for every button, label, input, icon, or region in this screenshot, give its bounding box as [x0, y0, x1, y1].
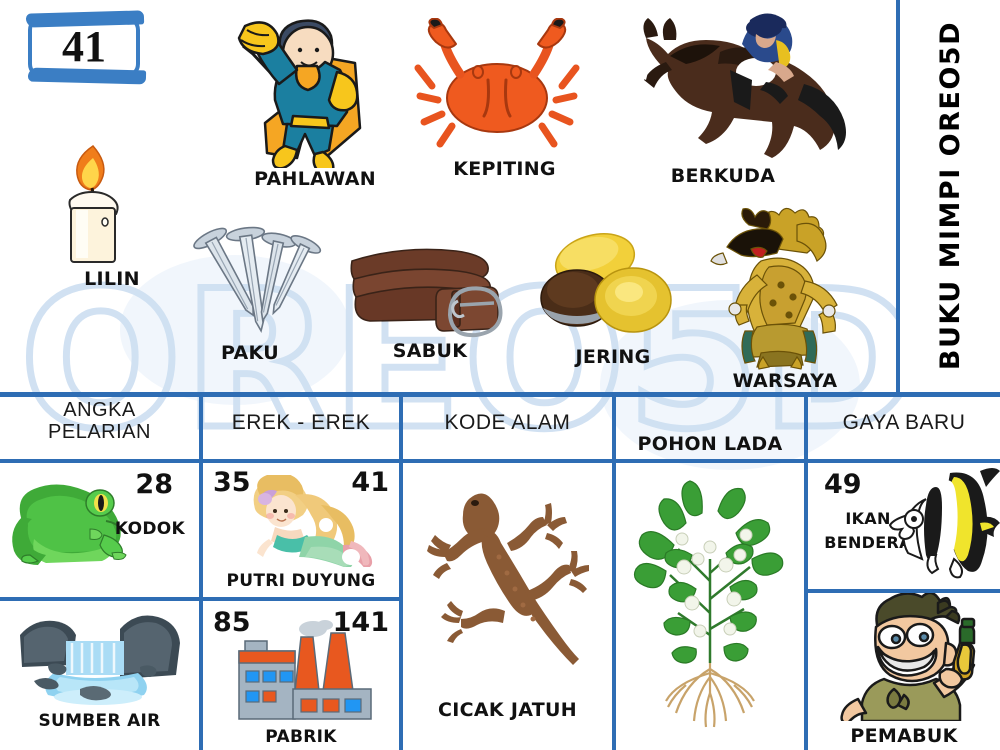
cell-number-left: 49 — [824, 469, 862, 500]
cell-pemabuk[interactable]: PEMABUK — [808, 593, 1000, 750]
item-label: KEPITING — [412, 158, 597, 180]
bottom-category-grid: ANGKA PELARIAN 28 — [0, 392, 1000, 750]
item-label: JERING — [533, 346, 693, 368]
grid-divider-4 — [804, 397, 808, 750]
cell-label: POHON LADA — [616, 433, 804, 455]
cell-label: PUTRI DUYUNG — [203, 571, 399, 591]
nails-icon — [170, 222, 330, 342]
sidebar-brand-banner: BUKU MIMPI OREO5D — [896, 0, 1000, 392]
factory-icon — [231, 615, 379, 723]
page-number-badge: 41 — [28, 16, 140, 78]
waterfall-icon — [14, 607, 184, 707]
cell-label: CICAK JATUH — [403, 699, 612, 721]
grid-divider-1 — [199, 397, 203, 750]
row-rule-col2 — [203, 597, 399, 601]
column-gaya-baru: GAYA BARU 49 IKAN BENDERA — [808, 397, 1000, 750]
column-header-line1: ANGKA — [0, 399, 199, 421]
column-header: ANGKA PELARIAN — [0, 397, 199, 444]
gecko-icon — [423, 481, 603, 671]
header-rule-col3 — [403, 459, 612, 463]
item-lilin[interactable]: LILIN — [48, 138, 176, 290]
cell-label: PEMABUK — [808, 725, 1000, 747]
item-label: WARSAYA — [705, 370, 865, 392]
header-rule-col1 — [0, 459, 199, 463]
header-rule-col4 — [616, 459, 804, 463]
candle-icon — [48, 138, 176, 268]
cell-pohon-lada[interactable]: POHON LADA — [616, 397, 804, 750]
pepper-plant-icon — [626, 463, 794, 743]
grid-divider-3 — [612, 397, 616, 750]
sidebar-title: BUKU MIMPI OREO5D — [935, 21, 966, 370]
wayang-puppet-icon — [705, 205, 865, 370]
column-header: EREK - EREK — [203, 397, 399, 435]
column-pohon-lada: POHON LADA — [616, 397, 804, 750]
column-header: KODE ALAM — [403, 397, 612, 435]
item-label: LILIN — [48, 268, 176, 290]
cell-putri-duyung[interactable]: 35 41 — [203, 463, 399, 597]
column-angka-pelarian: ANGKA PELARIAN 28 — [0, 397, 199, 750]
jengkol-beans-icon — [533, 226, 693, 346]
row-rule-col1 — [0, 597, 199, 601]
dream-book-page: OREO5D BUKU MIMPI OREO5D 41 — [0, 0, 1000, 750]
drunk-man-icon — [834, 593, 984, 721]
column-erek-erek: EREK - EREK 35 41 — [203, 397, 399, 750]
grid-divider-2 — [399, 397, 403, 750]
cell-sumber-air[interactable]: SUMBER AIR — [0, 603, 199, 750]
row-rule-col5 — [808, 589, 1000, 593]
cell-label: KODOK — [115, 519, 185, 539]
cell-number-right: 28 — [135, 469, 173, 500]
header-rule-col2 — [203, 459, 399, 463]
item-label: BERKUDA — [608, 165, 838, 187]
horse-rider-icon — [608, 10, 838, 165]
superhero-icon — [205, 8, 425, 168]
item-label: PAKU — [170, 342, 330, 364]
item-pahlawan[interactable]: PAHLAWAN — [205, 8, 425, 190]
item-kepiting[interactable]: KEPITING — [412, 18, 597, 180]
cell-ikan-bendera[interactable]: 49 IKAN BENDERA — [808, 463, 1000, 589]
column-header-line2: PELARIAN — [0, 421, 199, 443]
column-header: GAYA BARU — [808, 397, 1000, 435]
item-jering[interactable]: JERING — [533, 226, 693, 368]
belt-icon — [340, 235, 520, 340]
moorish-idol-fish-icon — [884, 467, 1000, 579]
page-number: 41 — [62, 25, 106, 69]
crab-icon — [412, 18, 597, 158]
item-sabuk[interactable]: SABUK — [340, 235, 520, 362]
item-warsaya[interactable]: WARSAYA — [705, 205, 865, 392]
cell-cicak-jatuh[interactable]: CICAK JATUH — [403, 463, 612, 750]
mermaid-icon — [225, 475, 383, 567]
cell-label: PABRIK — [203, 727, 399, 747]
item-label: PAHLAWAN — [205, 168, 425, 190]
column-kode-alam: KODE ALAM — [403, 397, 612, 750]
cell-label: SUMBER AIR — [0, 711, 199, 731]
item-paku[interactable]: PAKU — [170, 222, 330, 364]
item-berkuda[interactable]: BERKUDA — [608, 10, 838, 187]
cell-kodok[interactable]: 28 — [0, 463, 199, 597]
item-label: SABUK — [340, 340, 520, 362]
header-rule-col5 — [808, 459, 1000, 463]
cell-pabrik[interactable]: 85 141 — [203, 603, 399, 750]
